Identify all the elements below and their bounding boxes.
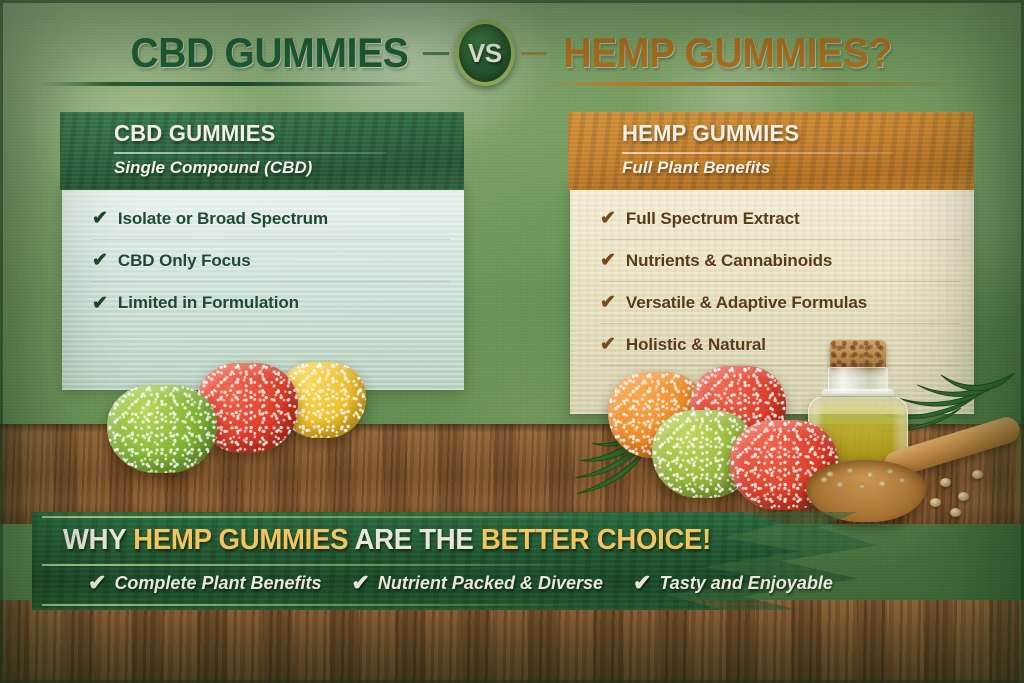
infographic-canvas: CBD GUMMIES VS HEMP GUMMIES? bbox=[0, 0, 1024, 683]
vignette-overlay bbox=[0, 0, 1024, 683]
